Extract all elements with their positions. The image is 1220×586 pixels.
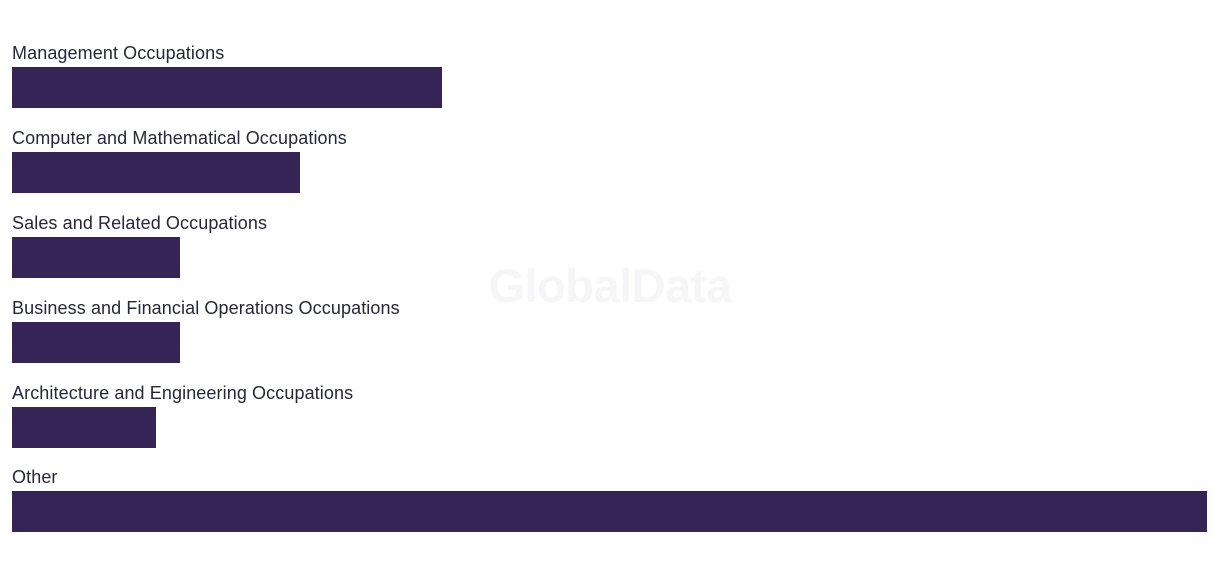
bar-rect-computer-mathematical[interactable] bbox=[12, 152, 300, 193]
bar-group-management: Management Occupations bbox=[12, 42, 442, 108]
bar-rect-other[interactable] bbox=[12, 491, 1207, 532]
bar-group-computer-mathematical: Computer and Mathematical Occupations bbox=[12, 127, 347, 193]
bar-label-computer-mathematical: Computer and Mathematical Occupations bbox=[12, 127, 347, 149]
bar-group-architecture-engineering: Architecture and Engineering Occupations bbox=[12, 382, 353, 448]
bar-rect-management[interactable] bbox=[12, 67, 442, 108]
bar-label-business-financial: Business and Financial Operations Occupa… bbox=[12, 297, 400, 319]
bar-label-sales-related: Sales and Related Occupations bbox=[12, 212, 267, 234]
bar-chart: GlobalData Management Occupations Comput… bbox=[0, 0, 1220, 586]
bar-label-management: Management Occupations bbox=[12, 42, 442, 64]
bar-label-other: Other bbox=[12, 466, 1207, 488]
bar-group-sales-related: Sales and Related Occupations bbox=[12, 212, 267, 278]
bar-group-business-financial: Business and Financial Operations Occupa… bbox=[12, 297, 400, 363]
bar-label-architecture-engineering: Architecture and Engineering Occupations bbox=[12, 382, 353, 404]
bar-rect-business-financial[interactable] bbox=[12, 322, 180, 363]
bars-layer: Management Occupations Computer and Math… bbox=[0, 0, 1220, 586]
bar-rect-sales-related[interactable] bbox=[12, 237, 180, 278]
bar-group-other: Other bbox=[12, 466, 1207, 532]
bar-rect-architecture-engineering[interactable] bbox=[12, 407, 156, 448]
